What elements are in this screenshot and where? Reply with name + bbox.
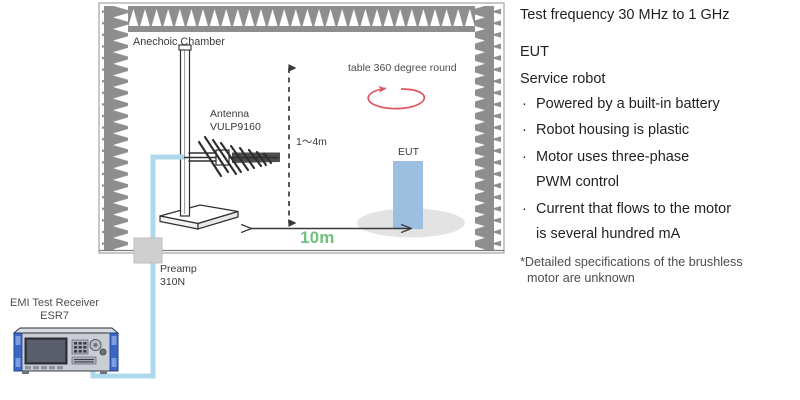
bullet-icon: · <box>522 150 527 165</box>
antenna-height-label: 1〜4m <box>296 136 327 149</box>
eut-heading: EUT <box>520 45 798 60</box>
turntable-label: table 360 degree round <box>348 62 457 75</box>
list-item: · Motor uses three-phase PWM control <box>520 150 798 190</box>
absorber-left-wall <box>102 6 128 250</box>
list-item-text: Current that flows to the motor <box>536 201 731 217</box>
receiver-label-line1: EMI Test Receiver <box>10 297 99 309</box>
footnote-line1: *Detailed specifications of the brushles… <box>520 255 743 269</box>
specification-panel: Test frequency 30 MHz to 1 GHz EUT Servi… <box>520 8 798 287</box>
antenna-label-line1: Antenna <box>210 108 249 120</box>
preamp-label: Preamp 310N <box>160 263 197 289</box>
footnote-line2: motor are unknown <box>520 270 798 287</box>
eut-device <box>393 161 423 229</box>
receiver-label: EMI Test Receiver ESR7 <box>10 297 99 324</box>
antenna-label-line2: VULP9160 <box>210 121 261 133</box>
list-item-text: Powered by a built-in battery <box>536 96 720 112</box>
emi-test-receiver <box>14 328 118 374</box>
preamp-box <box>134 238 162 263</box>
list-item-text: Robot housing is plastic <box>536 122 689 138</box>
list-item-text: Motor uses three-phase <box>536 149 689 165</box>
bullet-icon: · <box>522 123 527 138</box>
device-property-list: · Powered by a built-in battery · Robot … <box>520 97 798 242</box>
preamp-label-line2: 310N <box>160 276 185 288</box>
preamp-label-line1: Preamp <box>160 263 197 275</box>
bullet-icon: · <box>522 202 527 217</box>
list-item-text-continued: PWM control <box>536 175 798 190</box>
antenna-label: Antenna VULP9160 <box>210 108 261 134</box>
eut-label: EUT <box>398 146 419 159</box>
receiver-label-line2: ESR7 <box>10 310 99 323</box>
list-item: · Robot housing is plastic <box>520 123 798 138</box>
device-name: Service robot <box>520 72 798 87</box>
distance-label: 10m <box>300 228 335 249</box>
bullet-icon: · <box>522 97 527 112</box>
list-item: · Current that flows to the motor is sev… <box>520 202 798 242</box>
diagram-canvas: Anechoic Chamber Antenna VULP9160 table … <box>0 0 800 400</box>
list-item: · Powered by a built-in battery <box>520 97 798 112</box>
test-frequency-line: Test frequency 30 MHz to 1 GHz <box>520 8 798 23</box>
list-item-text-continued: is several hundred mA <box>536 227 798 242</box>
footnote: *Detailed specifications of the brushles… <box>520 254 798 287</box>
chamber-label: Anechoic Chamber <box>133 36 225 49</box>
absorber-right-wall <box>475 6 501 250</box>
absorber-ceiling <box>125 6 478 32</box>
